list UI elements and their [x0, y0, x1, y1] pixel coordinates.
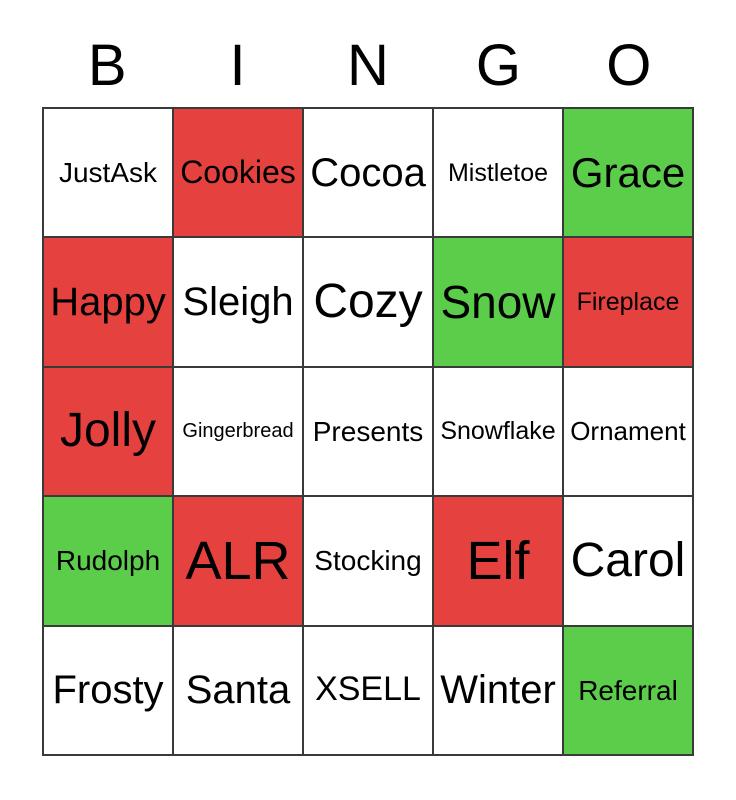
bingo-cell[interactable]: XSELL [304, 627, 434, 756]
bingo-cell-label: Snow [437, 278, 558, 326]
bingo-cell-label: Fireplace [574, 289, 683, 315]
bingo-header-letter-b: B [42, 30, 172, 102]
bingo-cell[interactable]: Mistletoe [434, 109, 564, 238]
bingo-cell[interactable]: Cookies [174, 109, 304, 238]
bingo-cell[interactable]: Winter [434, 627, 564, 756]
bingo-cell-label: XSELL [312, 672, 424, 708]
bingo-cell[interactable]: Sleigh [174, 238, 304, 367]
bingo-cell[interactable]: ALR [174, 497, 304, 626]
bingo-cell-label: Grace [568, 151, 688, 195]
bingo-cell[interactable]: Stocking [304, 497, 434, 626]
bingo-header-letter-i: I [172, 30, 302, 102]
bingo-cell-label: JustAsk [56, 158, 160, 187]
bingo-cell[interactable]: Presents [304, 368, 434, 497]
bingo-cell-label: Rudolph [53, 546, 163, 575]
bingo-cell[interactable]: Elf [434, 497, 564, 626]
bingo-cell-label: Happy [47, 281, 169, 323]
bingo-cell[interactable]: Gingerbread [174, 368, 304, 497]
bingo-cell[interactable]: Jolly [44, 368, 174, 497]
bingo-cell[interactable]: Santa [174, 627, 304, 756]
bingo-cell-label: Carol [568, 536, 689, 586]
bingo-cell-label: Presents [310, 417, 427, 446]
bingo-cell-label: Cozy [310, 277, 425, 327]
bingo-card: BINGO JustAskCookiesCocoaMistletoeGraceH… [0, 0, 736, 800]
bingo-cell[interactable]: Frosty [44, 627, 174, 756]
bingo-cell-label: Cocoa [307, 152, 429, 194]
bingo-cell[interactable]: Happy [44, 238, 174, 367]
bingo-cell[interactable]: Cocoa [304, 109, 434, 238]
bingo-cell[interactable]: Cozy [304, 238, 434, 367]
bingo-cell-label: Frosty [49, 669, 166, 711]
bingo-header-letter-g: G [433, 30, 563, 102]
bingo-cell-label: Stocking [311, 546, 424, 575]
bingo-cell[interactable]: Carol [564, 497, 694, 626]
bingo-cell-label: ALR [182, 533, 293, 590]
bingo-cell[interactable]: Snow [434, 238, 564, 367]
bingo-cell-label: Referral [575, 676, 681, 705]
bingo-cell[interactable]: Referral [564, 627, 694, 756]
bingo-cell[interactable]: Ornament [564, 368, 694, 497]
bingo-cell[interactable]: Fireplace [564, 238, 694, 367]
bingo-header-row: BINGO [42, 30, 694, 102]
bingo-cell-label: Cookies [177, 156, 299, 190]
bingo-cell[interactable]: Snowflake [434, 368, 564, 497]
bingo-header-letter-n: N [303, 30, 433, 102]
bingo-cell-label: Elf [463, 533, 532, 590]
bingo-cell-label: Gingerbread [179, 421, 296, 442]
bingo-cell-label: Snowflake [437, 418, 558, 444]
bingo-cell-label: Ornament [567, 418, 689, 445]
bingo-cell-label: Sleigh [179, 281, 296, 323]
bingo-cell[interactable]: JustAsk [44, 109, 174, 238]
bingo-cell-label: Winter [437, 669, 559, 711]
bingo-cell[interactable]: Rudolph [44, 497, 174, 626]
bingo-cell-label: Mistletoe [445, 160, 551, 186]
bingo-grid: JustAskCookiesCocoaMistletoeGraceHappySl… [42, 107, 694, 756]
bingo-header-letter-o: O [564, 30, 694, 102]
bingo-cell-label: Santa [183, 669, 294, 711]
bingo-cell-label: Jolly [57, 406, 159, 456]
bingo-cell[interactable]: Grace [564, 109, 694, 238]
